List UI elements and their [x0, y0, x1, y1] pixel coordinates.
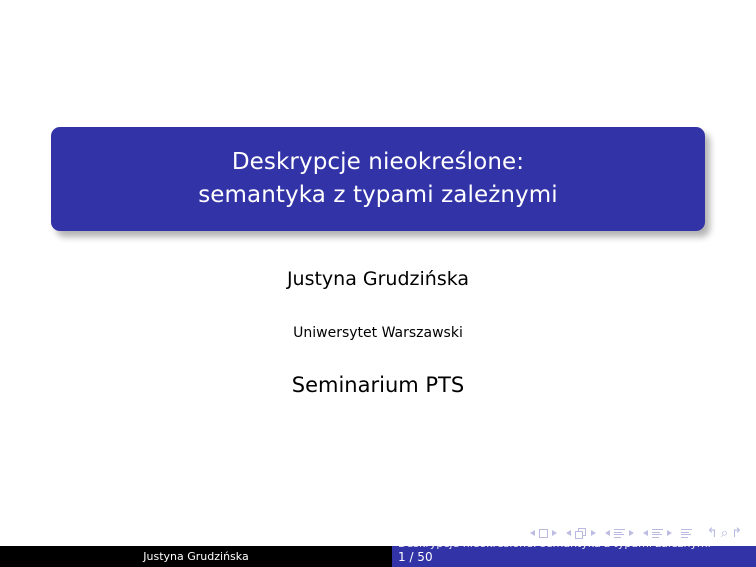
- nav-prev-subsection-triangle-icon[interactable]: [605, 530, 610, 536]
- nav-section-lines-icon[interactable]: [652, 528, 663, 538]
- institute-name: Uniwersytet Warszawski: [0, 325, 756, 341]
- nav-forward-arrow-icon[interactable]: ↱: [731, 527, 742, 540]
- nav-slide-group[interactable]: [530, 529, 557, 538]
- nav-prev-frame-triangle-icon[interactable]: [566, 530, 571, 536]
- footer-title-label: Deskrypcje nieokreślone: semantyka z typ…: [398, 546, 711, 550]
- footer-bar: Justyna Grudzińska Deskrypcje nieokreślo…: [0, 546, 756, 567]
- nav-subsection-group[interactable]: [605, 528, 634, 538]
- title-block: Deskrypcje nieokreślone: semantyka z typ…: [51, 127, 705, 231]
- nav-history-group[interactable]: ↰ ⌕ ↱: [707, 527, 744, 540]
- footer-title-section: Deskrypcje nieokreślone: semantyka z typ…: [392, 546, 756, 567]
- nav-next-section-triangle-icon[interactable]: [667, 530, 672, 536]
- nav-section-group[interactable]: [643, 528, 672, 538]
- nav-prev-section-triangle-icon[interactable]: [643, 530, 648, 536]
- event-name: Seminarium PTS: [0, 373, 756, 397]
- author-name: Justyna Grudzińska: [0, 268, 756, 290]
- nav-frame-group[interactable]: [566, 528, 596, 539]
- footer-page-number: 1 / 50: [398, 550, 433, 564]
- nav-prev-slide-triangle-icon[interactable]: [530, 530, 535, 536]
- nav-document-group[interactable]: [681, 528, 692, 538]
- nav-back-arrow-icon[interactable]: ↰: [707, 527, 718, 540]
- title-line-2: semantyka z typami zależnymi: [198, 179, 558, 212]
- nav-next-subsection-triangle-icon[interactable]: [629, 530, 634, 536]
- nav-next-frame-triangle-icon[interactable]: [591, 530, 596, 536]
- nav-next-slide-triangle-icon[interactable]: [552, 530, 557, 536]
- footer-author-section: Justyna Grudzińska: [0, 546, 392, 567]
- nav-subsection-lines-icon[interactable]: [614, 528, 625, 538]
- title-line-1: Deskrypcje nieokreślone:: [232, 146, 524, 179]
- nav-search-icon[interactable]: ⌕: [721, 527, 728, 540]
- nav-frame-stack-icon[interactable]: [575, 528, 587, 539]
- footer-author-label: Justyna Grudzińska: [143, 550, 248, 563]
- nav-slide-square-icon[interactable]: [539, 529, 548, 538]
- nav-doc-lines-icon[interactable]: [681, 528, 692, 538]
- beamer-navigation-bar[interactable]: ↰ ⌕ ↱: [530, 525, 744, 541]
